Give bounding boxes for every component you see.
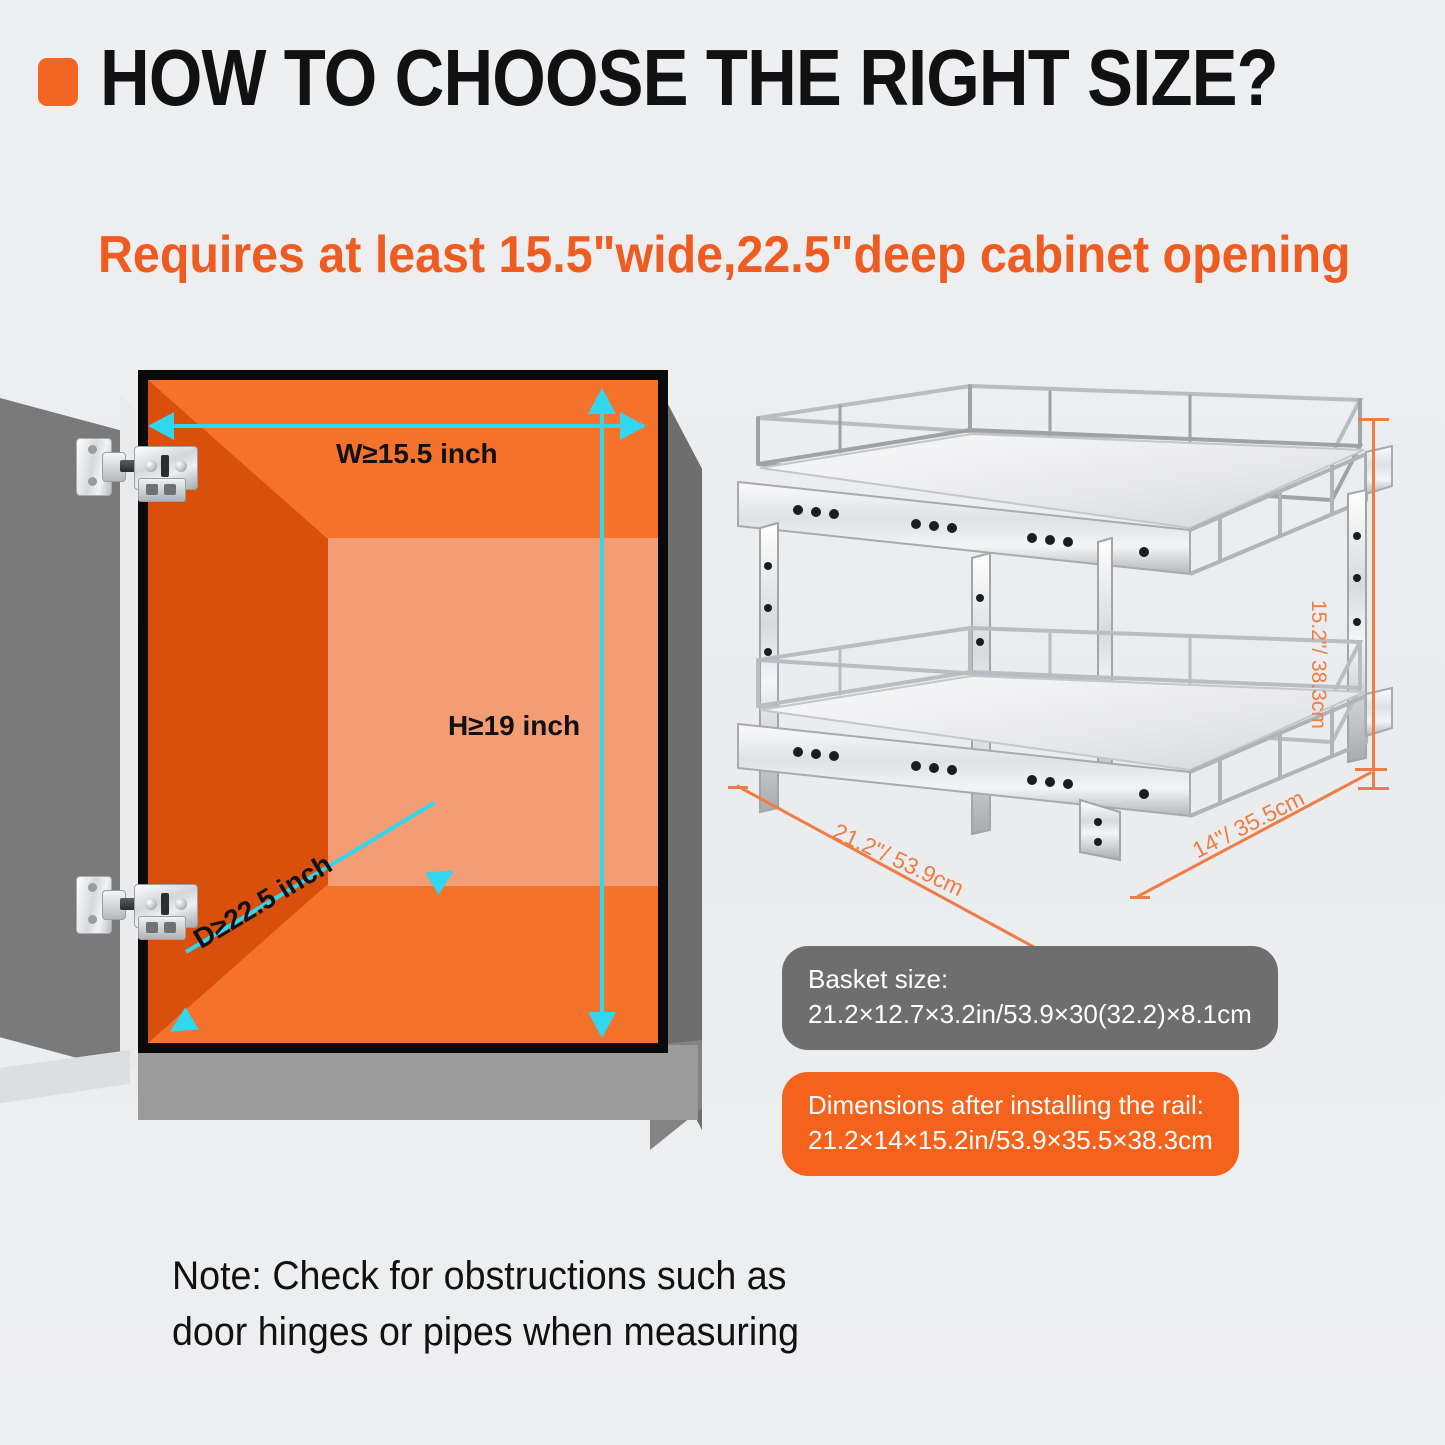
- hinge-hole-icon: [146, 484, 158, 495]
- width-arrow-head-left: [148, 412, 174, 440]
- cabinet-diagram: W≥15.5 inch H≥19 inch D≥22.5 inch: [0, 360, 730, 1170]
- basket-size-badge: Basket size: 21.2×12.7×3.2in/53.9×30(32.…: [782, 946, 1278, 1050]
- installed-size-title: Dimensions after installing the rail:: [808, 1088, 1213, 1123]
- note-text: Note: Check for obstructions such as doo…: [172, 1248, 830, 1360]
- bottom-rail-end-cap: [1366, 688, 1392, 736]
- bottom-hinge: [76, 876, 196, 934]
- product-height-label: 15.2"/ 38.3cm: [1306, 600, 1330, 729]
- hinge-screw-icon: [175, 460, 187, 472]
- hinge-baseplate-icon: [138, 916, 186, 940]
- height-dim-line: [1372, 418, 1375, 790]
- top-hinge: [76, 438, 196, 496]
- width-label: W≥15.5 inch: [336, 438, 498, 470]
- cabinet-door-base: [0, 1050, 130, 1108]
- height-arrow-head-bottom: [588, 1012, 616, 1038]
- depth-arrow-group: [168, 876, 488, 1036]
- requirement-subtitle: Requires at least 15.5"wide,22.5"deep ca…: [98, 225, 1298, 285]
- hinge-slot-icon: [161, 893, 169, 915]
- installed-size-value: 21.2×14×15.2in/53.9×35.5×38.3cm: [808, 1123, 1213, 1158]
- width-arrow-line: [162, 424, 644, 428]
- hinge-screw-icon: [145, 898, 157, 910]
- height-label: H≥19 inch: [448, 710, 580, 742]
- note-line-1: Note: Check for obstructions such as: [172, 1248, 830, 1304]
- hinge-hole-icon: [164, 484, 176, 495]
- hinge-screw-icon: [145, 460, 157, 472]
- header: HOW TO CHOOSE THE RIGHT SIZE?: [0, 0, 1445, 160]
- square-bullet-icon: [38, 58, 78, 106]
- page-title: HOW TO CHOOSE THE RIGHT SIZE?: [100, 34, 1278, 122]
- infographic-page: HOW TO CHOOSE THE RIGHT SIZE? Requires a…: [0, 0, 1445, 1445]
- hinge-hole-icon: [146, 922, 158, 933]
- front-bracket: [1080, 800, 1120, 860]
- height-arrow-head-top: [588, 388, 616, 414]
- cabinet-base: [138, 1045, 698, 1120]
- height-arrow-line: [600, 408, 604, 1021]
- width-dim-tick-right: [1355, 768, 1387, 771]
- hinge-hole-icon: [164, 922, 176, 933]
- depth-arrow-head-lower: [163, 1007, 199, 1043]
- hinge-screw-icon: [175, 898, 187, 910]
- hinge-slot-icon: [161, 455, 169, 477]
- hinge-baseplate-icon: [138, 478, 186, 502]
- note-line-2: door hinges or pipes when measuring: [172, 1304, 830, 1360]
- cabinet-opening: W≥15.5 inch H≥19 inch D≥22.5 inch: [148, 380, 658, 1043]
- cabinet-door-edge: [120, 396, 136, 1070]
- top-rail-end-cap: [1366, 446, 1392, 494]
- width-arrow-head-right: [620, 412, 646, 440]
- basket-size-value: 21.2×12.7×3.2in/53.9×30(32.2)×8.1cm: [808, 997, 1252, 1032]
- basket-size-title: Basket size:: [808, 962, 1252, 997]
- height-dim-tick-bottom: [1358, 787, 1389, 790]
- cabinet-frame: W≥15.5 inch H≥19 inch D≥22.5 inch: [138, 370, 668, 1053]
- installed-size-badge: Dimensions after installing the rail: 21…: [782, 1072, 1239, 1176]
